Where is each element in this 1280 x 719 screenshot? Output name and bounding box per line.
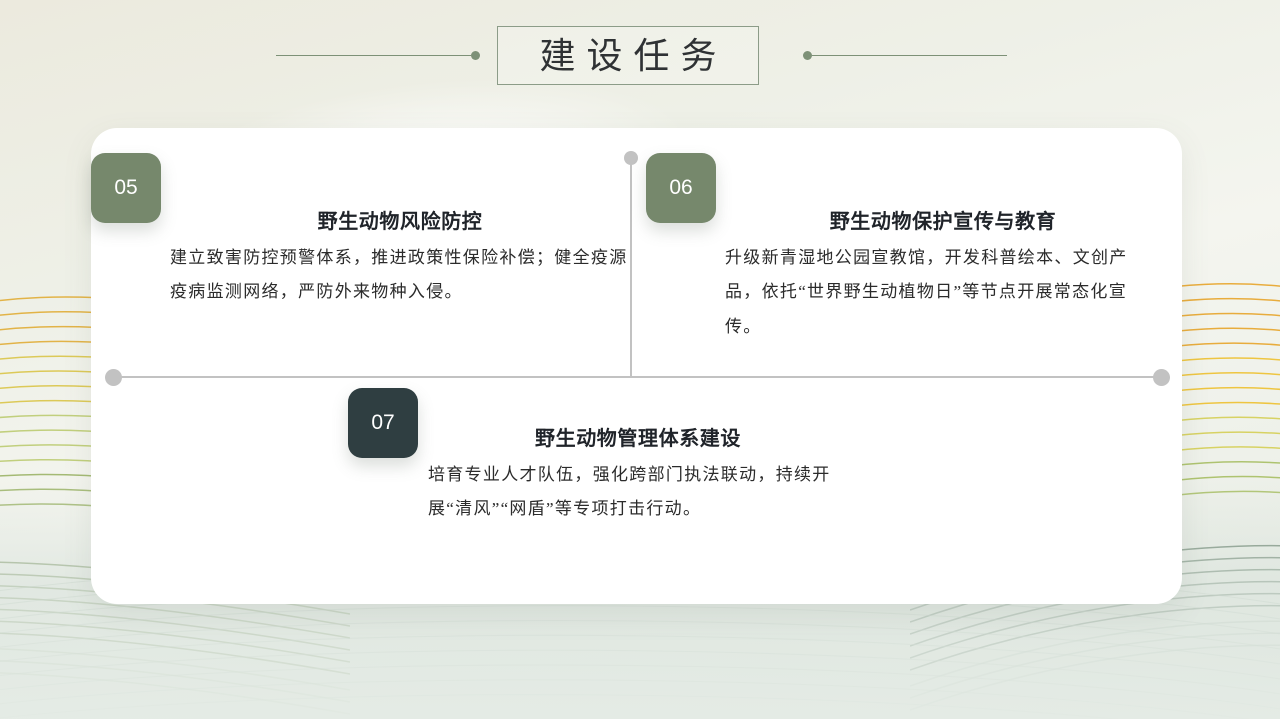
page-title: 建设任务 [528,38,727,74]
task-description-05: 建立致害防控预警体系，推进政策性保险补偿；健全疫源疫病监测网络，严防外来物种入侵… [170,241,630,310]
page-title-box: 建设任务 [497,26,759,85]
connector-dot-top-icon [624,151,638,165]
horizontal-connector-line [113,376,1162,378]
deco-line-left [276,55,471,56]
header-decoration-right [803,54,1007,56]
page-header: 建设任务 [0,0,1280,110]
header-decoration-left [276,54,480,56]
task-description-06: 升级新青湿地公园宣教馆，开发科普绘本、文创产品，依托“世界野生动植物日”等节点开… [725,241,1161,344]
deco-dot-left-icon [471,51,480,60]
task-title-05: 野生动物风险防控 [170,205,630,234]
task-title-06: 野生动物保护宣传与教育 [725,205,1161,234]
deco-dot-right-icon [803,51,812,60]
task-description-07: 培育专业人才队伍，强化跨部门执法联动，持续开展“清风”“网盾”等专项打击行动。 [428,458,848,527]
task-body-06: 野生动物保护宣传与教育 升级新青湿地公园宣教馆，开发科普绘本、文创产品，依托“世… [725,205,1161,344]
vertical-connector-line [630,158,632,377]
content-panel [91,128,1182,604]
connector-dot-right-icon [1153,369,1170,386]
task-body-07: 野生动物管理体系建设 培育专业人才队伍，强化跨部门执法联动，持续开展“清风”“网… [428,422,848,527]
task-number-badge-05: 05 [91,153,161,223]
task-number-badge-07: 07 [348,388,418,458]
deco-line-right [812,55,1007,56]
task-title-07: 野生动物管理体系建设 [428,422,848,451]
task-number-badge-06: 06 [646,153,716,223]
connector-dot-left-icon [105,369,122,386]
task-body-05: 野生动物风险防控 建立致害防控预警体系，推进政策性保险补偿；健全疫源疫病监测网络… [170,205,630,310]
